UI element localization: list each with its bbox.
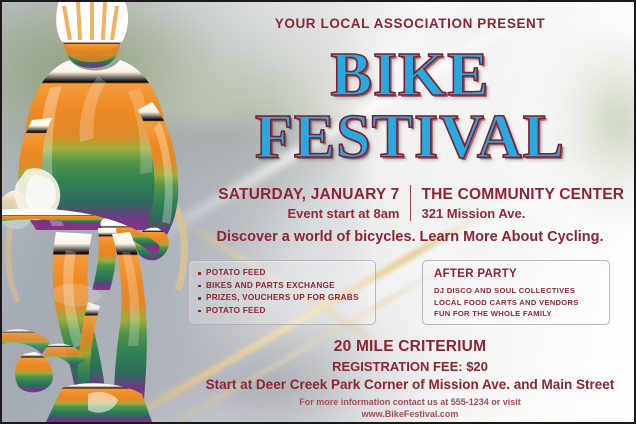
venue-address: 321 Mission Ave. [422, 206, 629, 223]
after-party-heading: AFTER PARTY [434, 268, 609, 280]
venue-name: THE COMMUNITY CENTER [422, 185, 629, 204]
page-title-line-1: BIKE [182, 46, 636, 106]
list-item: POTATO FEED [197, 305, 375, 318]
tagline: Discover a world of bicycles. Learn More… [182, 229, 636, 245]
event-start-time: Event start at 8am [192, 206, 400, 223]
after-party-list: DJ DISCO AND SOUL COLLECTIVES LOCAL FOOD… [434, 285, 609, 320]
registration-fee: REGISTRATION FEE: $20 [182, 359, 636, 374]
cyclist-illustration [2, 2, 202, 422]
contact-line-phone: For more information contact us at 555-1… [182, 397, 636, 409]
presenter-line: YOUR LOCAL ASSOCIATION PRESENT [182, 16, 636, 31]
list-item: POTATO FEED [197, 267, 375, 280]
list-item: LOCAL FOOD CARTS AND VENDORS [434, 297, 609, 309]
page-title-line-2: FESTIVAL [182, 108, 636, 168]
after-party-box: AFTER PARTY DJ DISCO AND SOUL COLLECTIVE… [422, 260, 610, 325]
event-poster: YOUR LOCAL ASSOCIATION PRESENT BIKE FEST… [0, 0, 636, 424]
contact-block: For more information contact us at 555-1… [182, 397, 636, 420]
list-item: FUN FOR THE WHOLE FAMILY [434, 308, 609, 320]
list-item: DJ DISCO AND SOUL COLLECTIVES [434, 285, 609, 297]
activities-box: POTATO FEED BIKES AND PARTS EXCHANGE PRI… [188, 260, 376, 325]
date-column: SATURDAY, JANUARY 7 Event start at 8am [192, 185, 410, 223]
date-venue-block: SATURDAY, JANUARY 7 Event start at 8am T… [182, 185, 636, 223]
list-item: BIKES AND PARTS EXCHANGE [197, 280, 375, 293]
start-location: Start at Deer Creek Park Corner of Missi… [182, 377, 636, 392]
activities-list: POTATO FEED BIKES AND PARTS EXCHANGE PRI… [197, 267, 375, 317]
venue-column: THE COMMUNITY CENTER 321 Mission Ave. [411, 185, 629, 223]
list-item: PRIZES, VOUCHERS UP FOR GRABS [197, 292, 375, 305]
race-name: 20 MILE CRITERIUM [182, 338, 636, 356]
event-date: SATURDAY, JANUARY 7 [192, 185, 400, 204]
contact-line-website: www.BikeFestival.com [182, 409, 636, 421]
poster-content: YOUR LOCAL ASSOCIATION PRESENT BIKE FEST… [182, 2, 636, 422]
